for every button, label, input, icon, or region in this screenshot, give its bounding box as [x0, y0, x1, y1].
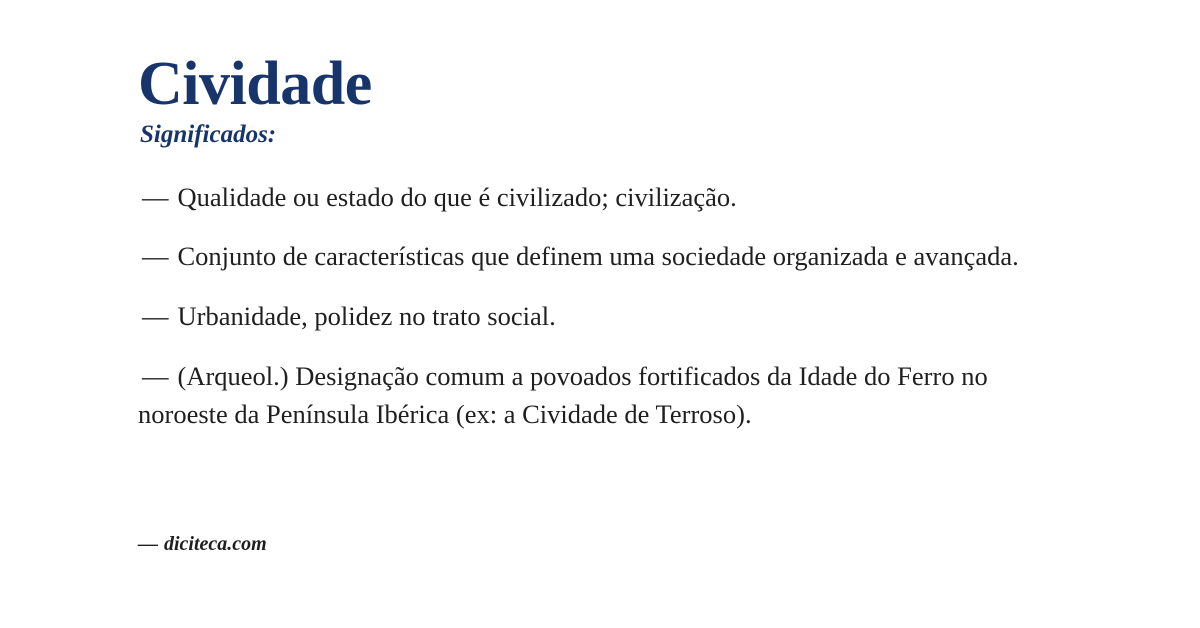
definition-text: Qualidade ou estado do que é civilizado;…: [178, 182, 737, 212]
list-item: —Urbanidade, polidez no trato social.: [138, 298, 1060, 336]
definition-list: —Qualidade ou estado do que é civilizado…: [138, 149, 1060, 434]
page-title: Cividade: [138, 0, 1060, 117]
em-dash-bullet-icon: —: [138, 361, 178, 391]
meanings-subtitle: Significados:: [140, 121, 1060, 149]
en-dash-icon: —: [138, 533, 164, 555]
source-name: diciteca.com: [164, 533, 267, 555]
em-dash-bullet-icon: —: [138, 182, 178, 212]
source-attribution: —diciteca.com: [138, 532, 267, 556]
definition-text: Urbanidade, polidez no trato social.: [178, 301, 556, 331]
definition-text: (Arqueol.) Designação comum a povoados f…: [138, 361, 988, 429]
list-item: —Qualidade ou estado do que é civilizado…: [138, 179, 1060, 217]
list-item: —(Arqueol.) Designação comum a povoados …: [138, 358, 1060, 434]
definition-text: Conjunto de características que definem …: [178, 241, 1019, 271]
list-item: —Conjunto de características que definem…: [138, 238, 1060, 276]
dictionary-entry-card: Cividade Significados: —Qualidade ou est…: [0, 0, 1200, 628]
em-dash-bullet-icon: —: [138, 301, 178, 331]
em-dash-bullet-icon: —: [138, 241, 178, 271]
